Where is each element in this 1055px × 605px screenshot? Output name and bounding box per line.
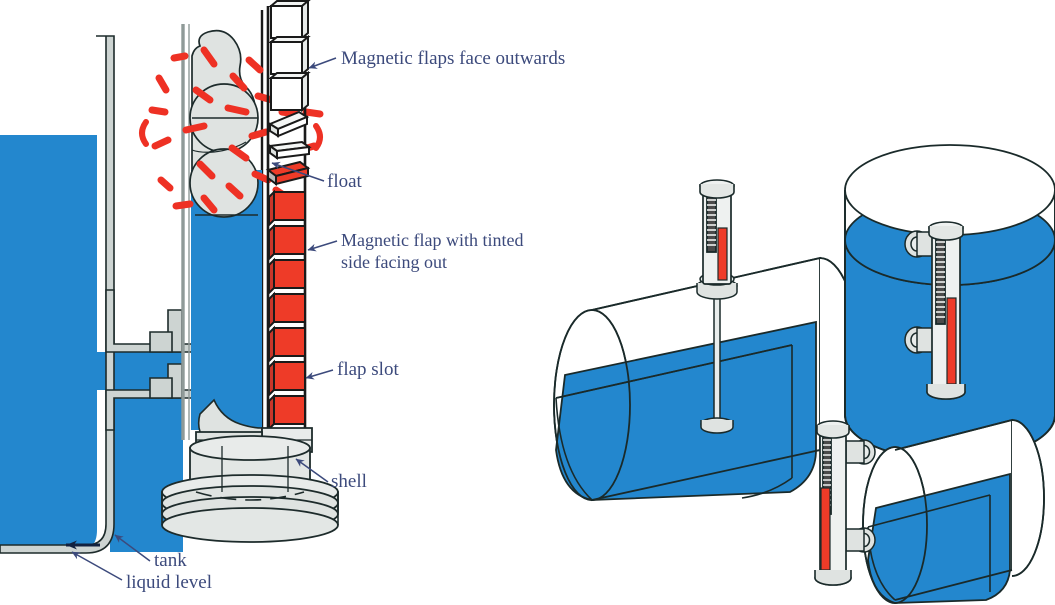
shell-assembly: [162, 428, 338, 542]
label-liquid-level: liquid level: [126, 572, 212, 593]
flap-red-group: [269, 192, 305, 429]
cutaway-assembly: [0, 1, 338, 553]
label-magnetic-flap-line2: side facing out: [341, 252, 447, 272]
label-tank: tank: [154, 550, 187, 571]
label-shell: shell: [331, 471, 367, 492]
flap-white-group: [271, 1, 308, 110]
diagram-canvas: Magnetic flaps face outwards float Magne…: [0, 0, 1055, 605]
leader-magnetic-flaps: [309, 58, 336, 68]
flap-tilting-group: [270, 112, 309, 158]
label-magnetic-flaps-face-outwards: Magnetic flaps face outwards: [341, 48, 565, 69]
leader-magnetic-flap: [308, 241, 337, 250]
label-float: float: [327, 171, 363, 192]
magnetic-level-indicator-diagram: Magnetic flaps face outwards float Magne…: [0, 0, 1055, 605]
leader-liquid-level: [72, 552, 122, 580]
horizontal-tank-end-mounted: [863, 420, 1044, 603]
leader-flap-slot: [306, 370, 333, 378]
label-magnetic-flap-line1: Magnetic flap with tinted: [341, 230, 523, 250]
label-flap-slot: flap slot: [337, 359, 399, 380]
tank-arrangements: [554, 145, 1055, 603]
